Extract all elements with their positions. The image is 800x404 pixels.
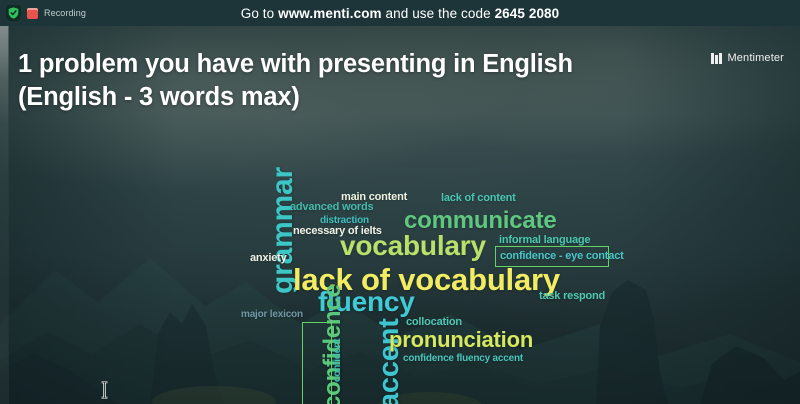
mentimeter-logo-icon <box>711 53 722 64</box>
word-cloud-item[interactable]: task respond <box>539 291 605 302</box>
word-cloud-item[interactable]: confident <box>333 339 343 382</box>
word-cloud-item[interactable]: confidence - eye contact <box>500 251 624 262</box>
background-window-edge <box>0 26 9 404</box>
word-cloud-item[interactable]: confidence fluency accent <box>403 354 523 364</box>
word-cloud-item[interactable]: lack of content <box>441 193 516 204</box>
menti-middle: and use the code <box>382 6 495 21</box>
word-cloud-item[interactable]: anxiety <box>250 253 287 264</box>
brand-name: Mentimeter <box>727 52 784 64</box>
menti-url: www.menti.com <box>278 6 382 21</box>
menti-prefix: Go to <box>241 6 278 21</box>
mentimeter-presentation-screen: Recording Go to www.menti.com and use th… <box>0 0 800 404</box>
slide-canvas: 1 problem you have with presenting in En… <box>0 26 800 404</box>
mentimeter-brand: Mentimeter <box>711 52 784 64</box>
menti-join-instruction: Go to www.menti.com and use the code 264… <box>0 6 800 21</box>
page-title: 1 problem you have with presenting in En… <box>18 48 698 113</box>
word-cloud-item[interactable]: pronunciation <box>389 329 533 351</box>
recording-topbar: Recording Go to www.menti.com and use th… <box>0 0 800 26</box>
word-cloud-item[interactable]: informal language <box>499 235 590 246</box>
word-cloud-item[interactable]: advanced words <box>290 202 373 213</box>
word-cloud-item[interactable]: vocabulary <box>340 232 486 260</box>
word-cloud-item[interactable]: major lexicon <box>241 310 303 320</box>
menti-code: 2645 2080 <box>495 6 560 21</box>
